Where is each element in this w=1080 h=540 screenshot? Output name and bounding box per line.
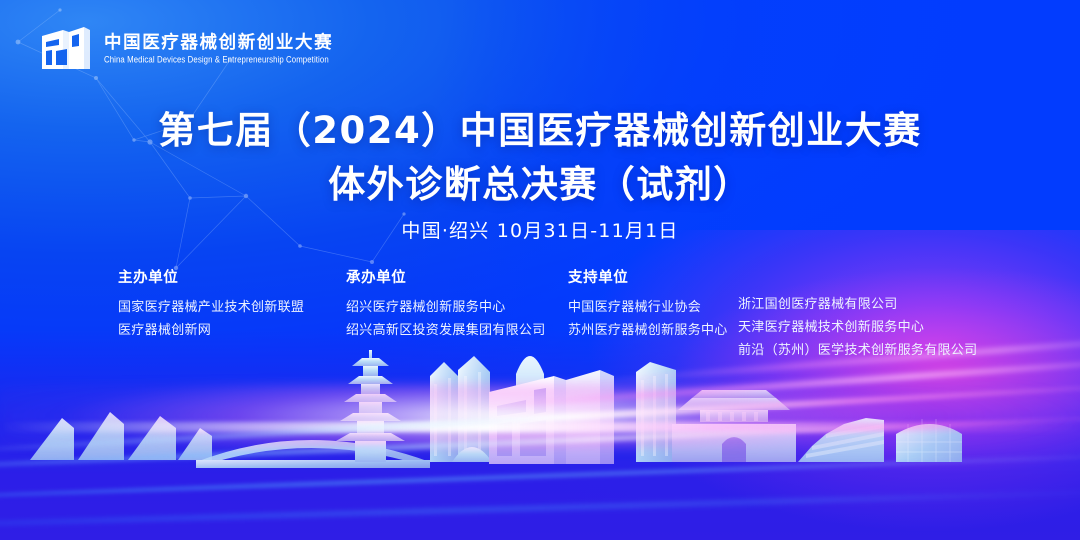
organizer-column-host: 主办单位 国家医疗器械产业技术创新联盟 医疗器械创新网 <box>118 266 346 362</box>
organizer-item: 绍兴医疗器械创新服务中心 <box>346 296 568 319</box>
hero-subtitle-location-date: 中国·绍兴 10月31日-11月1日 <box>0 216 1080 243</box>
organizer-item: 绍兴高新区投资发展集团有限公司 <box>346 319 568 342</box>
organizer-column-supporter: 支持单位 中国医疗器械行业协会 苏州医疗器械创新服务中心 <box>568 266 738 362</box>
organizer-column-organizer: 承办单位 绍兴医疗器械创新服务中心 绍兴高新区投资发展集团有限公司 <box>346 266 568 362</box>
organizer-column-header: 支持单位 <box>568 266 738 287</box>
brand-name-en: China Medical Devices Design & Entrepren… <box>104 55 333 64</box>
organizer-item: 医疗器械创新网 <box>118 319 346 342</box>
organizers-section: 主办单位 国家医疗器械产业技术创新联盟 医疗器械创新网 承办单位 绍兴医疗器械创… <box>118 266 998 362</box>
organizer-column-header: 承办单位 <box>346 266 568 287</box>
organizer-item: 苏州医疗器械创新服务中心 <box>568 319 738 342</box>
hero-title-line1: 第七届（2024）中国医疗器械创新创业大赛 <box>0 108 1080 154</box>
organizer-item: 浙江国创医疗器械有限公司 <box>738 293 977 316</box>
organizer-item: 前沿（苏州）医学技术创新服务有限公司 <box>738 339 977 362</box>
brand-logo: 中国医疗器械创新创业大赛 China Medical Devices Desig… <box>38 24 333 74</box>
organizer-column-header: 主办单位 <box>118 266 346 287</box>
organizer-column-supporter-extra: 浙江国创医疗器械有限公司 天津医疗器械技术创新服务中心 前沿（苏州）医学技术创新… <box>738 266 977 362</box>
hero-title-block: 第七届（2024）中国医疗器械创新创业大赛 体外诊断总决赛（试剂） <box>0 108 1080 208</box>
brand-name-cn: 中国医疗器械创新创业大赛 <box>104 34 333 52</box>
organizer-item: 天津医疗器械技术创新服务中心 <box>738 316 977 339</box>
organizer-item: 国家医疗器械产业技术创新联盟 <box>118 296 346 319</box>
hero-title-line2: 体外诊断总决赛（试剂） <box>0 162 1080 208</box>
open-door-book-logo-icon <box>38 24 94 74</box>
organizer-item: 中国医疗器械行业协会 <box>568 296 738 319</box>
event-poster-banner: 中国医疗器械创新创业大赛 China Medical Devices Desig… <box>0 0 1080 540</box>
